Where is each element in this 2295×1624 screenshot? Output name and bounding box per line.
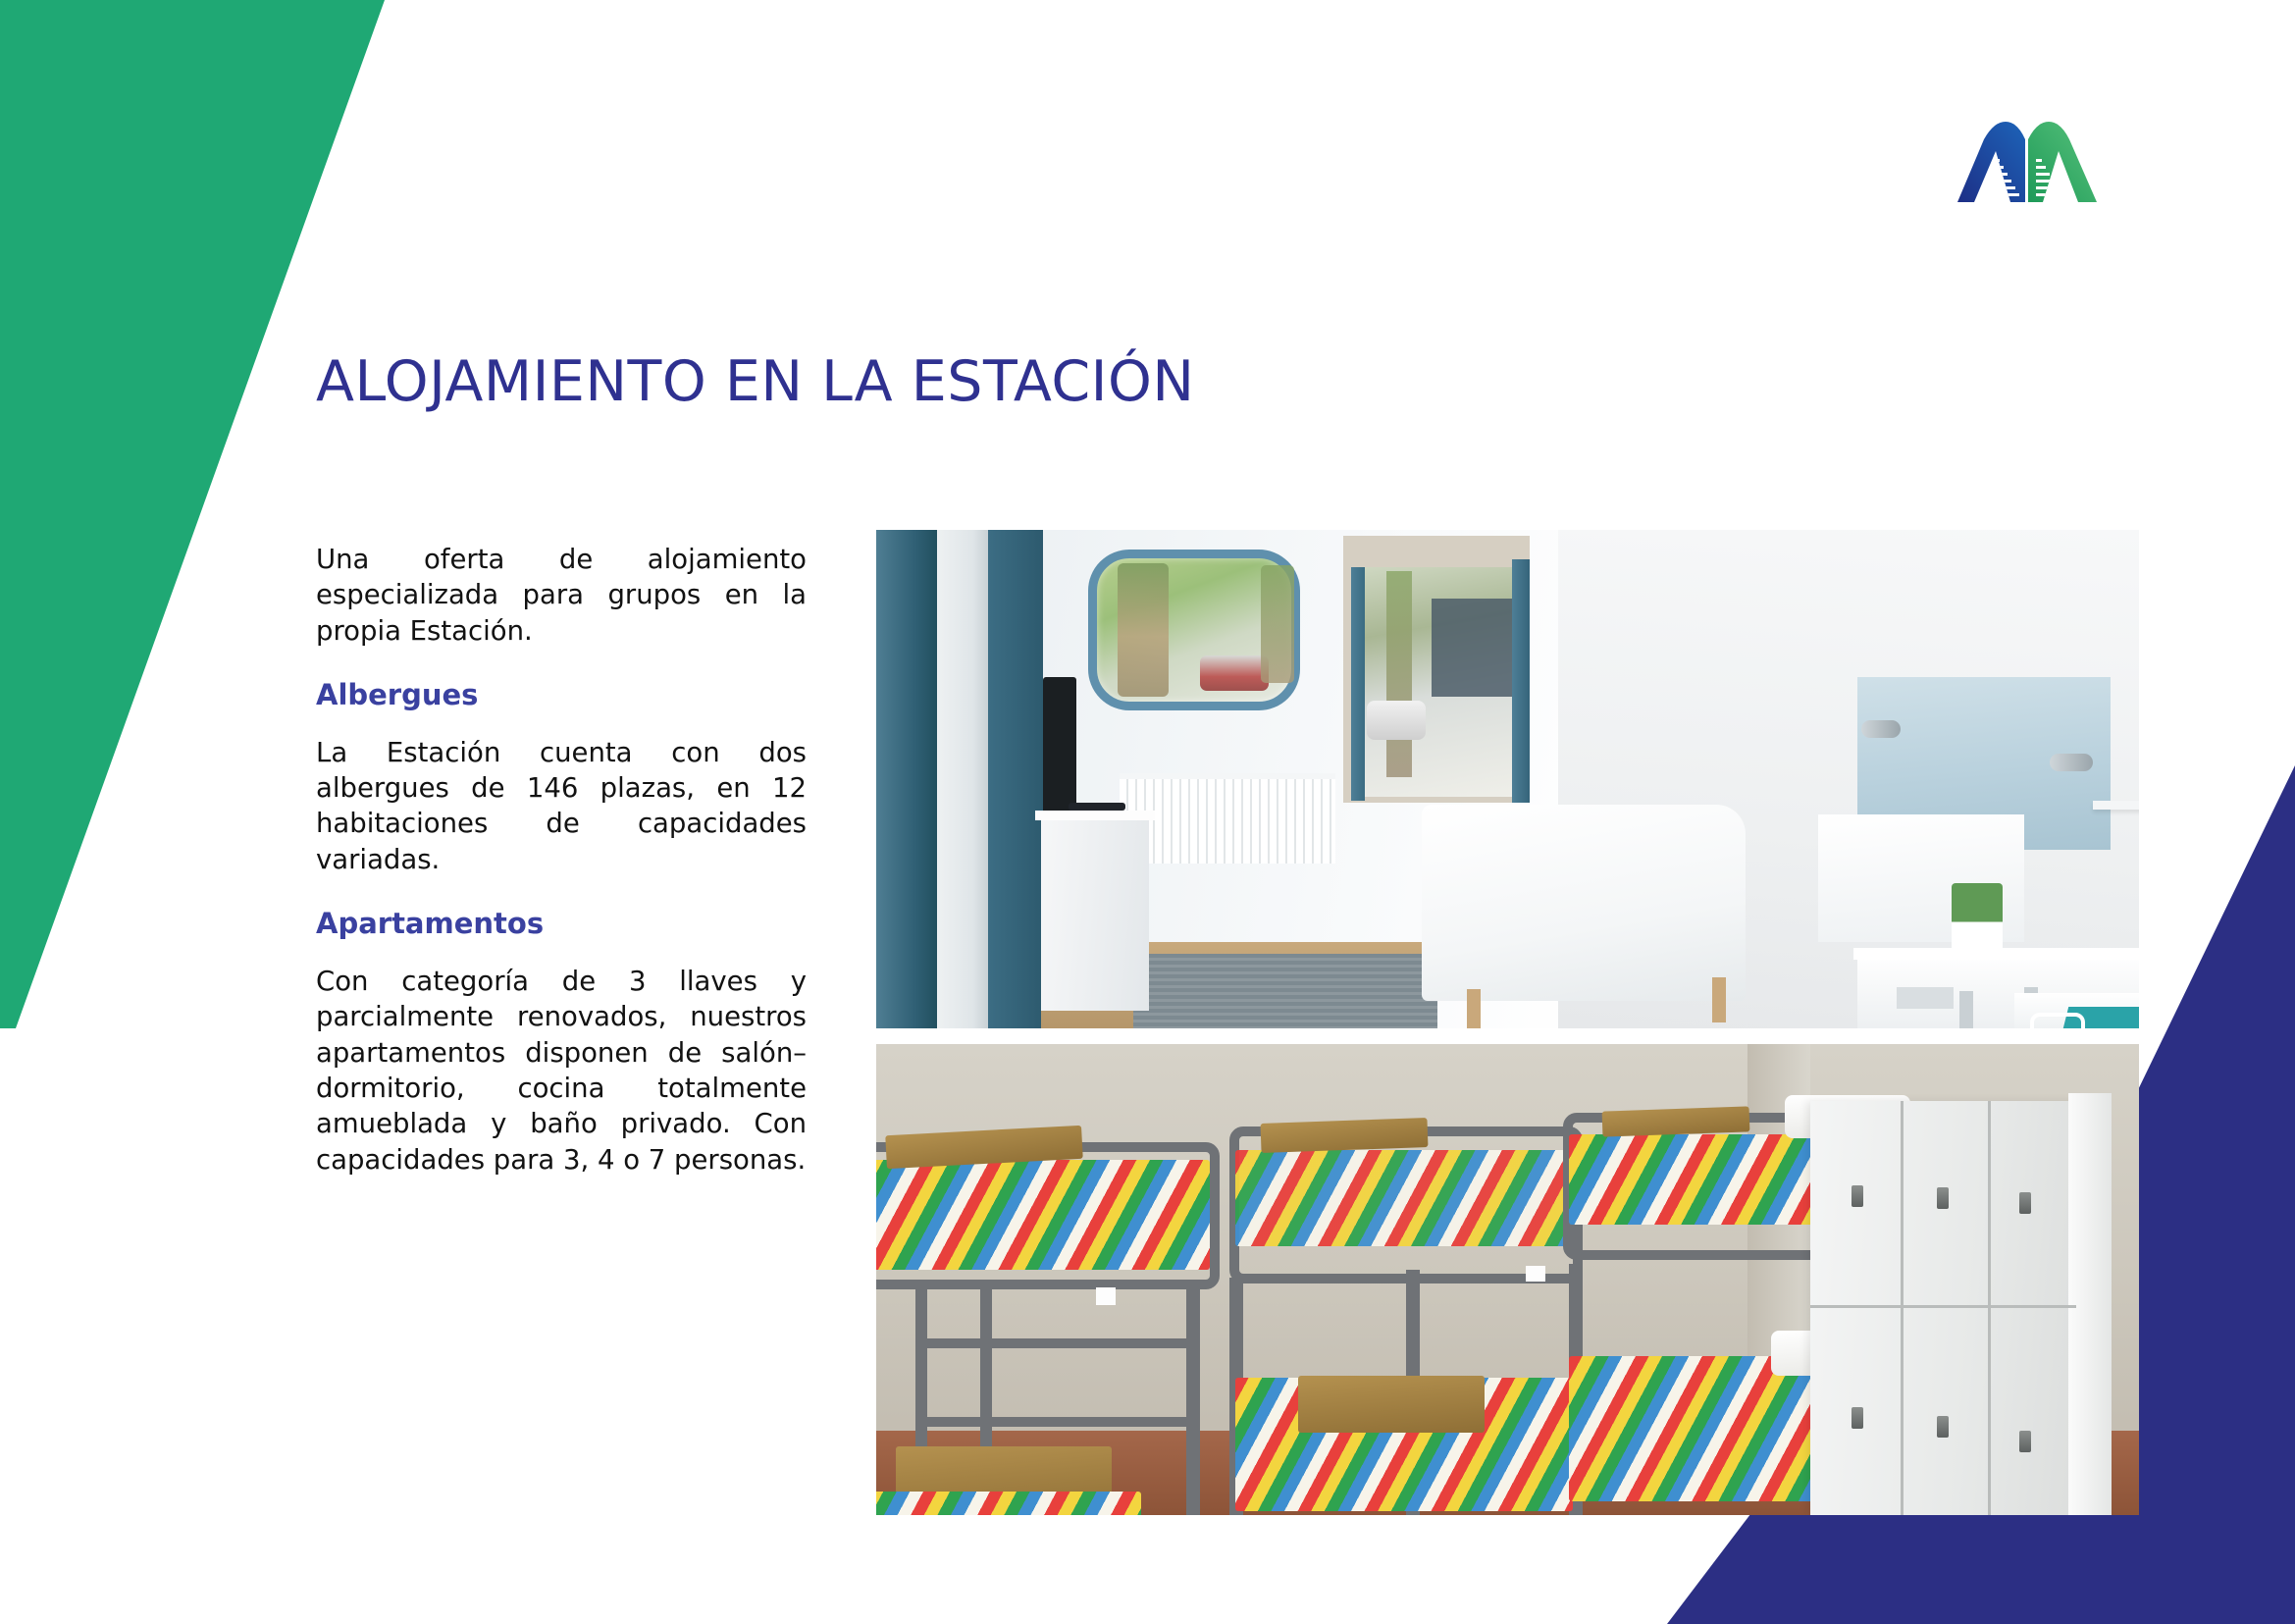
intro-paragraph: Una oferta de alojamiento especializada …: [316, 542, 807, 649]
wall-shelf: [2093, 801, 2139, 810]
section-body-apartamentos: Con categoría de 3 llaves y parcialmente…: [316, 964, 807, 1178]
folded-blanket: [1298, 1376, 1485, 1433]
apartment-bedroom-photo: [876, 530, 2139, 1028]
wall-tv: [1043, 677, 1076, 814]
folded-blanket: [1602, 1106, 1750, 1136]
m-mountain-logo-icon: [1955, 120, 2102, 204]
page-title: ALOJAMIENTO EN LA ESTACIÓN: [316, 349, 1194, 414]
hostel-bunk-beds-photo: [876, 1044, 2139, 1515]
text-column: Una oferta de alojamiento especializada …: [316, 542, 807, 1178]
chair-left: [2030, 1013, 2085, 1028]
slide-canvas: ALOJAMIENTO EN LA ESTACIÓN Una oferta de…: [0, 0, 2295, 1624]
double-bed: [1422, 805, 1746, 1001]
section-heading-apartamentos: Apartamentos: [316, 907, 807, 940]
potted-plant: [1952, 883, 2003, 958]
bunk-mattress: [1235, 1150, 1569, 1246]
section-heading-albergues: Albergues: [316, 678, 807, 711]
section-body-albergues: La Estación cuenta con dos albergues de …: [316, 735, 807, 877]
bunk-mattress: [876, 1160, 1210, 1270]
folded-blanket: [1261, 1118, 1429, 1153]
